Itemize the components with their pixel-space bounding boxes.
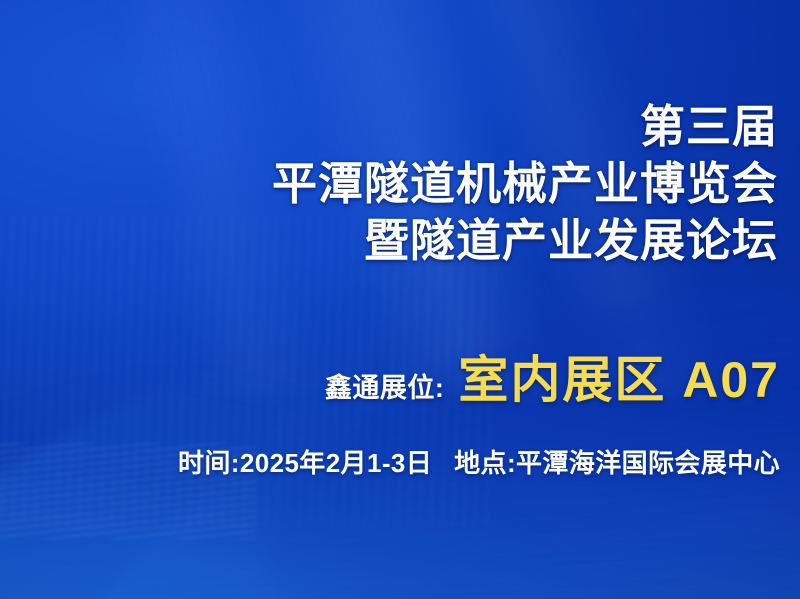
banner-content: 第三届 平潭隧道机械产业博览会 暨隧道产业发展论坛 鑫通展位: 室内展区 A07… <box>0 0 800 599</box>
event-info-row: 时间:2025年2月1-3日 地点:平潭海洋国际会展中心 <box>178 443 780 480</box>
booth-number: 室内展区 A07 <box>458 340 780 412</box>
event-title-line-1: 第三届 <box>272 104 778 150</box>
booth-info-row: 鑫通展位: 室内展区 A07 <box>325 340 780 412</box>
event-title-block: 第三届 平潭隧道机械产业博览会 暨隧道产业发展论坛 <box>272 104 778 264</box>
event-location: 地点:平潭海洋国际会展中心 <box>454 443 780 480</box>
event-title-line-3: 暨隧道产业发展论坛 <box>272 218 778 264</box>
event-date: 时间:2025年2月1-3日 <box>178 443 432 480</box>
event-banner: 第三届 平潭隧道机械产业博览会 暨隧道产业发展论坛 鑫通展位: 室内展区 A07… <box>0 0 800 599</box>
booth-label: 鑫通展位: <box>325 366 445 405</box>
event-title-line-2: 平潭隧道机械产业博览会 <box>272 161 778 207</box>
